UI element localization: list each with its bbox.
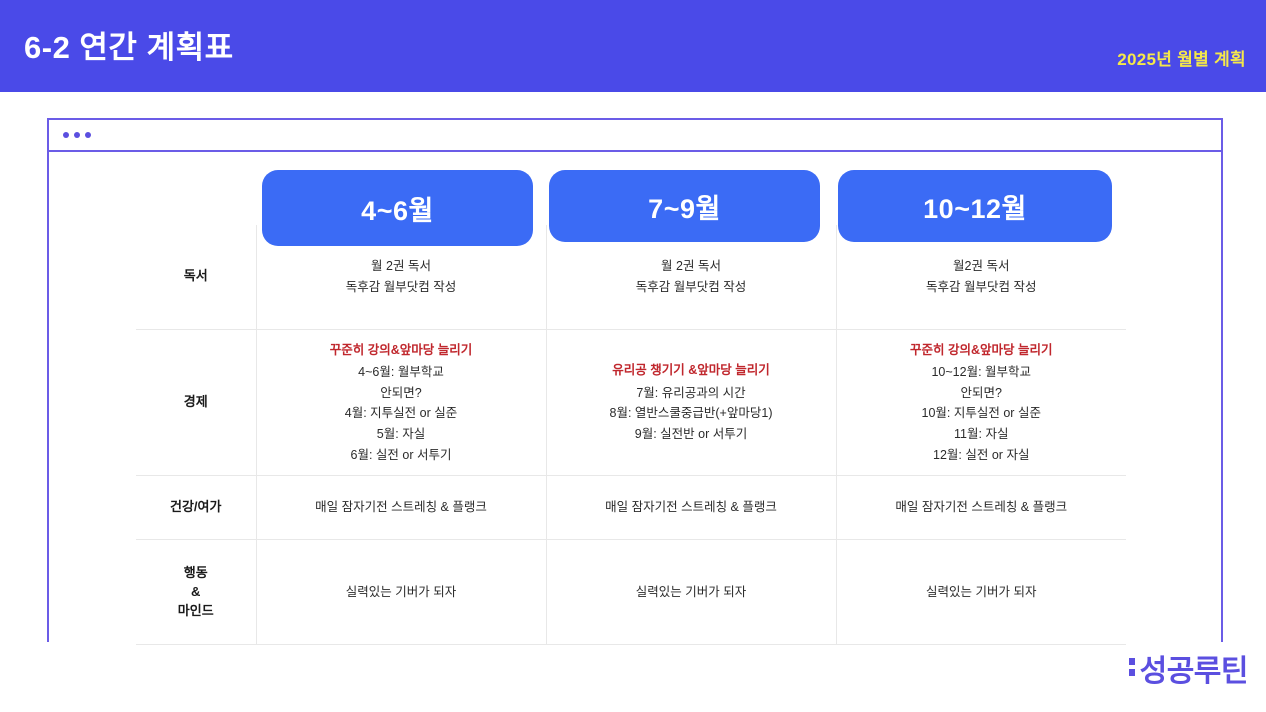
- cell-line: 월 2권 독서: [265, 256, 538, 277]
- cell-line: 매일 잠자기전 스트레칭 & 플랭크: [845, 497, 1119, 518]
- header-subtitle: 2025년 월별 계획: [1117, 45, 1246, 70]
- row-label-mind: 행동&마인드: [136, 540, 256, 645]
- cell-line: 12월: 실전 or 자실: [845, 445, 1119, 466]
- row-label-line: 독서: [144, 267, 248, 286]
- row-label-gyeongje: 경제: [136, 329, 256, 476]
- cell-dokseo-q1: 월 2권 독서독후감 월부닷컴 작성: [256, 225, 546, 329]
- cell-accent-line: 꾸준히 강의&앞마당 늘리기: [265, 340, 538, 361]
- cell-accent-line: 유리공 챙기기 &앞마당 늘리기: [555, 360, 828, 381]
- cell-health-q2: 매일 잠자기전 스트레칭 & 플랭크: [546, 476, 836, 540]
- cell-line: 독후감 월부닷컴 작성: [265, 277, 538, 298]
- slide-header: 6-2 연간 계획표 2025년 월별 계획: [0, 0, 1266, 92]
- window-dot-icon: [63, 132, 69, 138]
- cell-line: 9월: 실전반 or 서투기: [555, 424, 828, 445]
- cell-line: 월 2권 독서: [555, 256, 828, 277]
- row-label-dokseo: 독서: [136, 225, 256, 329]
- window-dot-icon: [74, 132, 80, 138]
- cell-gyeongje-q2: 유리공 챙기기 &앞마당 늘리기7월: 유리공과의 시간8월: 열반스쿨중급반(…: [546, 329, 836, 476]
- plan-table: 독서 월 2권 독서독후감 월부닷컴 작성 월 2권 독서독후감 월부닷컴 작성…: [136, 225, 1126, 645]
- brand-logo: 성공루틴: [1129, 646, 1248, 690]
- page-title: 6-2 연간 계획표: [24, 22, 234, 67]
- cell-line: 실력있는 기버가 되자: [555, 582, 828, 603]
- window-titlebar: [49, 120, 1221, 152]
- cell-gyeongje-q3: 꾸준히 강의&앞마당 늘리기10~12월: 월부학교안되면?10월: 지투실전 …: [836, 329, 1126, 476]
- cell-line: 10~12월: 월부학교: [845, 362, 1119, 383]
- cell-health-q3: 매일 잠자기전 스트레칭 & 플랭크: [836, 476, 1126, 540]
- cell-line: 안되면?: [845, 383, 1119, 404]
- cell-line: 매일 잠자기전 스트레칭 & 플랭크: [555, 497, 828, 518]
- row-label-line: 마인드: [144, 602, 248, 621]
- cell-accent-line: 꾸준히 강의&앞마당 늘리기: [845, 340, 1119, 361]
- slide-root: 6-2 연간 계획표 2025년 월별 계획 4~6월 7~9월 10~12월 …: [0, 0, 1266, 712]
- cell-line: 독후감 월부닷컴 작성: [555, 277, 828, 298]
- table-row: 건강/여가 매일 잠자기전 스트레칭 & 플랭크 매일 잠자기전 스트레칭 & …: [136, 476, 1126, 540]
- cell-dokseo-q2: 월 2권 독서독후감 월부닷컴 작성: [546, 225, 836, 329]
- cell-line: 10월: 지투실전 or 실준: [845, 403, 1119, 424]
- cell-line: 실력있는 기버가 되자: [265, 582, 538, 603]
- cell-dokseo-q3: 월2권 독서독후감 월부닷컴 작성: [836, 225, 1126, 329]
- cell-mind-q3: 실력있는 기버가 되자: [836, 540, 1126, 645]
- cell-line: 8월: 열반스쿨중급반(+앞마당1): [555, 403, 828, 424]
- brand-name: 성공루틴: [1140, 646, 1248, 690]
- plan-table-wrap: 독서 월 2권 독서독후감 월부닷컴 작성 월 2권 독서독후감 월부닷컴 작성…: [136, 225, 1126, 645]
- row-label-line: 행동: [144, 564, 248, 583]
- cell-line: 7월: 유리공과의 시간: [555, 383, 828, 404]
- cell-line: 5월: 자실: [265, 424, 538, 445]
- table-row: 행동&마인드 실력있는 기버가 되자 실력있는 기버가 되자 실력있는 기버가 …: [136, 540, 1126, 645]
- row-label-line: &: [144, 583, 248, 602]
- table-row: 경제 꾸준히 강의&앞마당 늘리기4~6월: 월부학교안되면?4월: 지투실전 …: [136, 329, 1126, 476]
- cell-mind-q1: 실력있는 기버가 되자: [256, 540, 546, 645]
- cell-line: 안되면?: [265, 383, 538, 404]
- cell-line: 월2권 독서: [845, 256, 1119, 277]
- plan-table-body: 독서 월 2권 독서독후감 월부닷컴 작성 월 2권 독서독후감 월부닷컴 작성…: [136, 225, 1126, 645]
- cell-mind-q2: 실력있는 기버가 되자: [546, 540, 836, 645]
- cell-gyeongje-q1: 꾸준히 강의&앞마당 늘리기4~6월: 월부학교안되면?4월: 지투실전 or …: [256, 329, 546, 476]
- cell-line: 11월: 자실: [845, 424, 1119, 445]
- window-dot-icon: [85, 132, 91, 138]
- row-label-line: 경제: [144, 393, 248, 412]
- row-label-health: 건강/여가: [136, 476, 256, 540]
- cell-line: 6월: 실전 or 서투기: [265, 445, 538, 466]
- cell-line: 4월: 지투실전 or 실준: [265, 403, 538, 424]
- cell-line: 독후감 월부닷컴 작성: [845, 277, 1119, 298]
- row-label-line: 건강/여가: [144, 498, 248, 517]
- table-row: 독서 월 2권 독서독후감 월부닷컴 작성 월 2권 독서독후감 월부닷컴 작성…: [136, 225, 1126, 329]
- cell-health-q1: 매일 잠자기전 스트레칭 & 플랭크: [256, 476, 546, 540]
- cell-line: 매일 잠자기전 스트레칭 & 플랭크: [265, 497, 538, 518]
- cell-line: 4~6월: 월부학교: [265, 362, 538, 383]
- cell-line: 실력있는 기버가 되자: [845, 582, 1119, 603]
- colon-mark-icon: [1129, 658, 1135, 676]
